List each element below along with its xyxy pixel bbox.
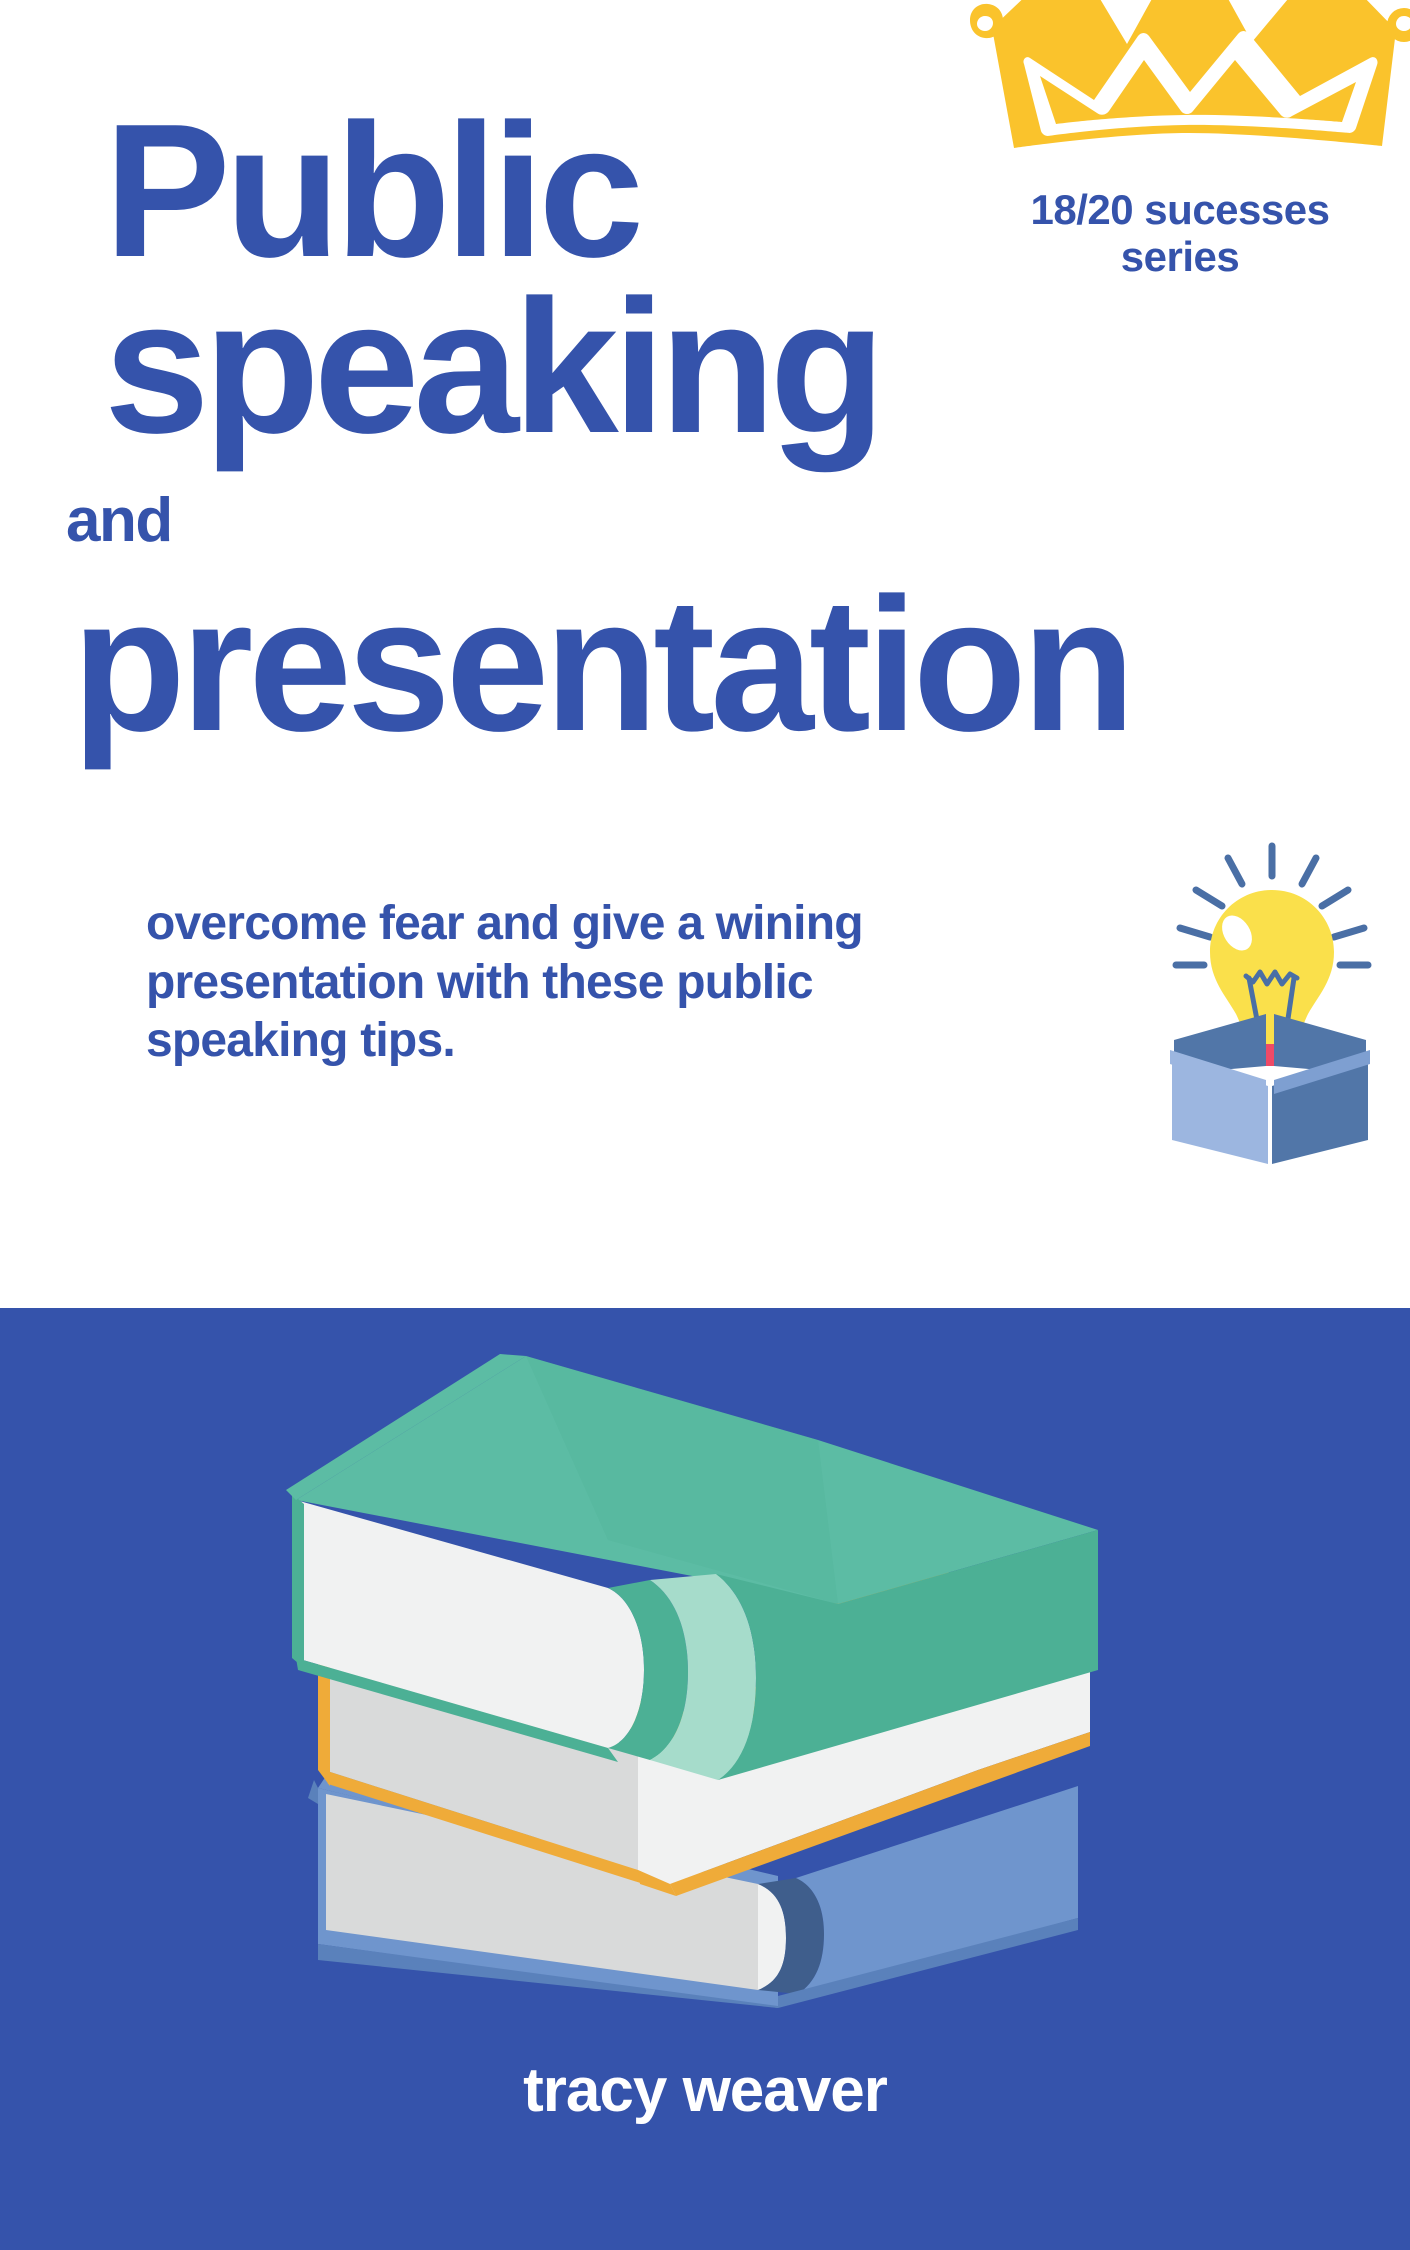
title-line-speaking: speaking	[104, 272, 880, 462]
subtitle-line-1: overcome fear and give a wining	[146, 895, 976, 954]
badge-line-1: 18/20 sucesses	[960, 186, 1400, 233]
book-stack-icon	[278, 1318, 1148, 2008]
book-cover: 18/20 sucesses series Public speaking an…	[0, 0, 1410, 2250]
author-name: tracy weaver	[0, 2060, 1410, 2122]
badge-line-2: series	[960, 233, 1400, 280]
lightbulb-in-box-icon	[1136, 828, 1396, 1168]
subtitle: overcome fear and give a wining presenta…	[146, 895, 976, 1071]
subtitle-line-2: presentation with these public	[146, 954, 976, 1013]
crown-icon	[952, 0, 1410, 152]
series-badge: 18/20 sucesses series	[960, 186, 1400, 280]
title-line-public: Public	[104, 96, 638, 286]
title-conjunction-and: and	[66, 490, 172, 552]
title-line-presentation: presentation	[72, 570, 1131, 760]
subtitle-line-3: speaking tips.	[146, 1012, 976, 1071]
